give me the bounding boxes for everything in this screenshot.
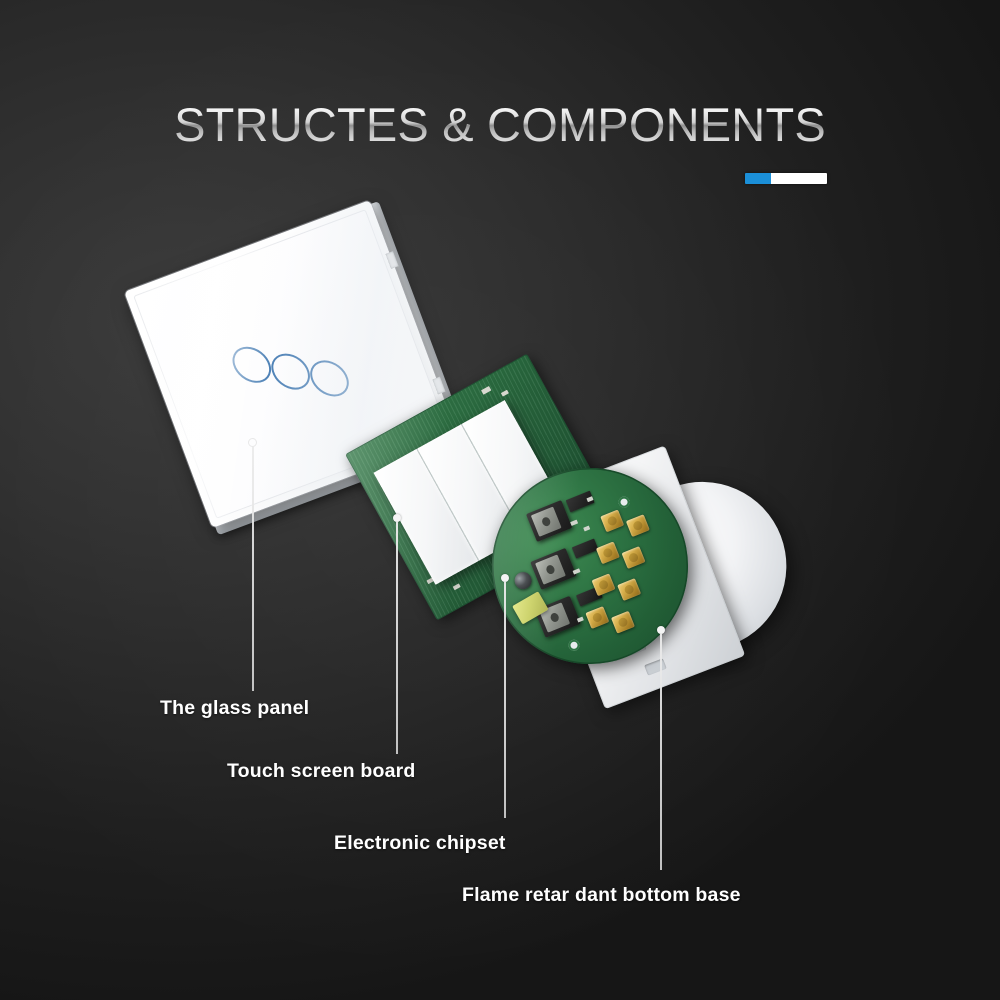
leader-line-touch-board bbox=[396, 522, 398, 754]
screw-terminal-1 bbox=[600, 509, 624, 532]
callout-marker-touch-board bbox=[393, 514, 401, 522]
callout-label-chipset: Electronic chipset bbox=[334, 832, 506, 855]
screw-terminal-7 bbox=[585, 606, 609, 629]
relay-1 bbox=[526, 500, 572, 542]
touch-button-3-icon bbox=[303, 353, 356, 404]
chipset-smd-4 bbox=[577, 617, 584, 623]
accent-bar-white-segment bbox=[771, 173, 827, 184]
callout-label-glass-panel: The glass panel bbox=[160, 697, 309, 720]
chipset-mount-hole bbox=[617, 495, 631, 509]
relay-2-metal-cover bbox=[535, 554, 566, 584]
chipset-capacitor-black bbox=[512, 570, 534, 592]
relay-2 bbox=[530, 548, 576, 590]
screw-terminal-3 bbox=[596, 541, 620, 564]
accent-bar bbox=[745, 173, 827, 184]
callout-marker-chipset bbox=[501, 574, 509, 582]
accent-bar-blue-segment bbox=[745, 173, 771, 184]
callout-label-bottom-base: Flame retar dant bottom base bbox=[462, 884, 741, 907]
relay-1-metal-cover bbox=[531, 507, 562, 537]
screw-terminal-2 bbox=[626, 514, 650, 537]
leader-line-chipset bbox=[504, 582, 506, 818]
chipset-ic-1 bbox=[566, 491, 595, 513]
chipset-smd-3 bbox=[573, 568, 581, 574]
callout-marker-bottom-base bbox=[657, 626, 665, 634]
callout-marker-glass-panel bbox=[248, 438, 257, 447]
chipset-smd-1 bbox=[570, 520, 578, 526]
page-title: STRUCTES & COMPONENTS bbox=[0, 97, 1000, 152]
base-mount-hole-bottom bbox=[644, 658, 667, 675]
callout-label-touch-board: Touch screen board bbox=[227, 760, 416, 783]
chipset-ic-2 bbox=[572, 539, 599, 559]
leader-line-bottom-base bbox=[660, 634, 662, 870]
screw-terminal-4 bbox=[622, 546, 646, 569]
chipset-mount-hole bbox=[567, 638, 581, 652]
leader-line-glass-panel bbox=[252, 447, 254, 691]
screw-terminal-8 bbox=[611, 611, 635, 634]
chipset-smd-2 bbox=[583, 526, 590, 532]
infographic-canvas: STRUCTES & COMPONENTS bbox=[0, 0, 1000, 1000]
screw-terminal-6 bbox=[617, 578, 641, 601]
